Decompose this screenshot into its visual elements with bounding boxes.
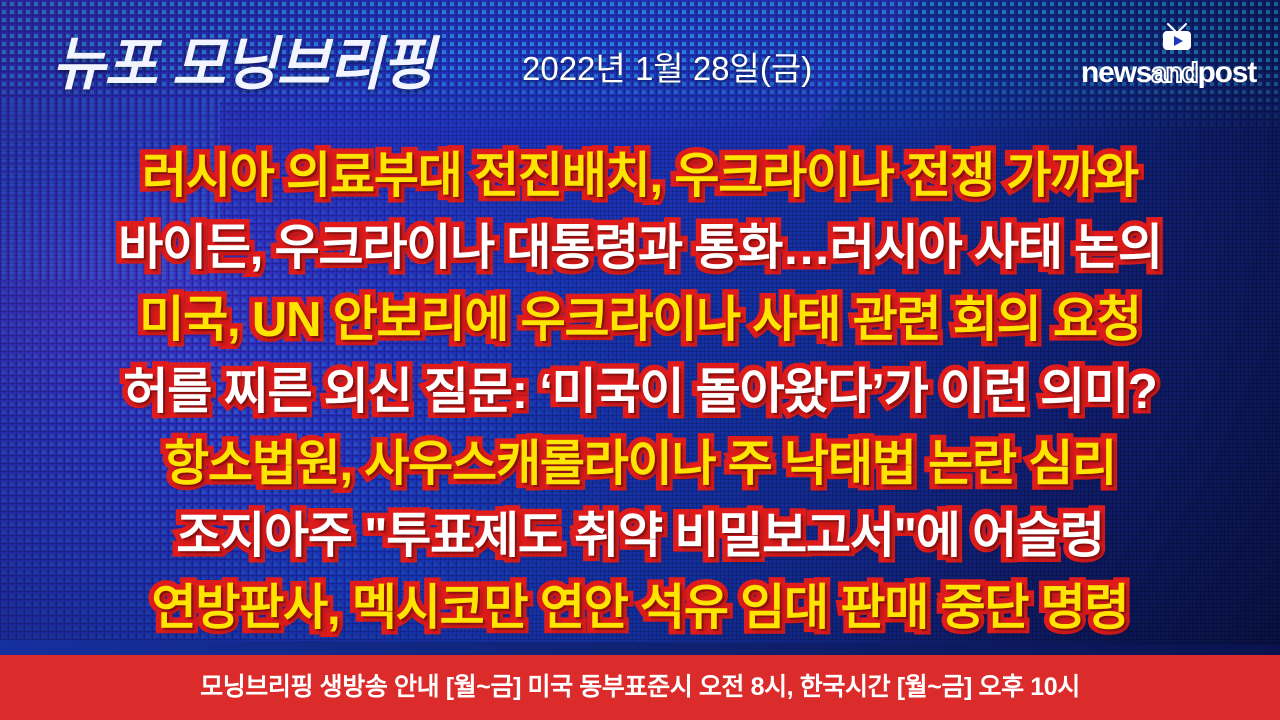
tv-play-icon [1156, 22, 1198, 52]
footer-schedule-detail: [월~금] 미국 동부표준시 오전 8시, 한국시간 [월~금] 오후 10시 [439, 673, 1080, 701]
broadcast-date: 2022년 1월 28일(금) [522, 52, 812, 85]
header-bar: 뉴포 모닝브리핑 2022년 1월 28일(금) newsandpost [0, 0, 1280, 124]
headline-item-5: 항소법원, 사우스캐롤라이나 주 낙태법 논란 심리 [0, 428, 1280, 500]
headline-item-1: 러시아 의료부대 전진배치, 우크라이나 전쟁 가까와 [0, 140, 1280, 212]
footer-banner: 모닝브리핑 생방송 안내 [월~금] 미국 동부표준시 오전 8시, 한국시간 … [0, 655, 1280, 720]
footer-text: 모닝브리핑 생방송 안내 [월~금] 미국 동부표준시 오전 8시, 한국시간 … [200, 675, 1080, 700]
headline-item-3: 미국, UN 안보리에 우크라이나 사태 관련 회의 요청 [0, 284, 1280, 356]
logo-word-news: news [1081, 56, 1151, 89]
headline-item-4: 허를 찌른 외신 질문: ‘미국이 돌아왔다’가 이런 의미? [0, 356, 1280, 428]
footer-schedule-label: 모닝브리핑 생방송 안내 [200, 673, 439, 701]
logo-wordmark: newsandpost [1081, 58, 1256, 88]
headline-item-6: 조지아주 "투표제도 취약 비밀보고서"에 어슬렁 [0, 500, 1280, 572]
headline-item-2: 바이든, 우크라이나 대통령과 통화…러시아 사태 논의 [0, 212, 1280, 284]
headline-item-7: 연방판사, 멕시코만 연안 석유 임대 판매 중단 명령 [0, 572, 1280, 644]
logo-word-post: post [1197, 56, 1256, 89]
program-title: 뉴포 모닝브리핑 [52, 36, 434, 94]
newsandpost-logo[interactable]: newsandpost [1070, 22, 1256, 92]
logo-word-and: and [1151, 57, 1197, 88]
morning-briefing-slide: 뉴포 모닝브리핑 2022년 1월 28일(금) newsandpost 러시아… [0, 0, 1280, 720]
headline-list: 러시아 의료부대 전진배치, 우크라이나 전쟁 가까와 바이든, 우크라이나 대… [0, 140, 1280, 652]
